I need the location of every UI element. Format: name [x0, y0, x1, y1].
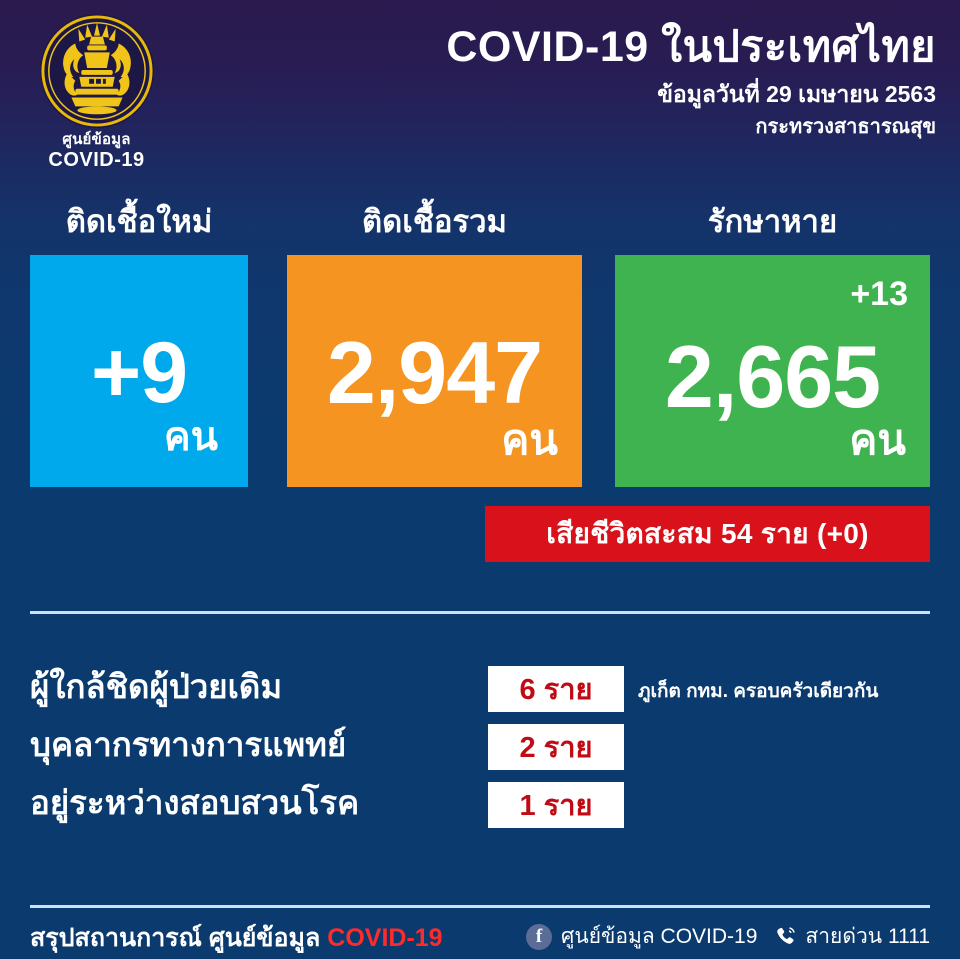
breakdown-label: อยู่ระหว่างสอบสวนโรค — [30, 782, 359, 825]
breakdown-count-chip: 2 ราย — [488, 724, 624, 770]
stat-card-label: รักษาหาย — [615, 205, 930, 249]
deaths-banner: เสียชีวิตสะสม 54 ราย (+0) — [485, 506, 930, 562]
page-title: COVID-19 ในประเทศไทย — [446, 24, 936, 71]
stat-cards: ติดเชื้อใหม่ +9 คน ติดเชื้อรวม 2,947 คน … — [30, 205, 930, 495]
footer-source-text: สรุปสถานการณ์ ศูนย์ข้อมูล — [30, 924, 327, 952]
divider-bottom — [30, 905, 930, 908]
thai-garuda-ministry-emblem-icon — [38, 12, 156, 130]
poster-header: ศูนย์ข้อมูล COVID-19 COVID-19 ในประเทศไท… — [0, 0, 960, 185]
stat-card-box: +9 คน — [30, 255, 248, 487]
breakdown-label: ผู้ใกล้ชิดผู้ป่วยเดิม — [30, 666, 282, 709]
breakdown-count-chip: 1 ราย — [488, 782, 624, 828]
stat-card-recovered: รักษาหาย +13 2,665 คน — [615, 205, 930, 487]
case-breakdown-list: ผู้ใกล้ชิดผู้ป่วยเดิม 6 ราย ภูเก็ต กทม. … — [30, 664, 930, 838]
deaths-text: เสียชีวิตสะสม 54 ราย (+0) — [546, 512, 868, 556]
list-item: ผู้ใกล้ชิดผู้ป่วยเดิม 6 ราย ภูเก็ต กทม. … — [30, 664, 930, 718]
emblem-caption-line1: ศูนย์ข้อมูล — [24, 132, 169, 149]
footer-source-highlight: COVID-19 — [327, 924, 442, 952]
list-item: บุคลากรทางการแพทย์ 2 ราย — [30, 722, 930, 776]
title-block: COVID-19 ในประเทศไทย ข้อมูลวันที่ 29 เมษ… — [446, 24, 936, 139]
stat-card-unit: คน — [164, 417, 218, 457]
list-item: อยู่ระหว่างสอบสวนโรค 1 ราย — [30, 780, 930, 834]
ministry-name: กระทรวงสาธารณสุข — [446, 115, 936, 139]
covid-infographic-poster: ศูนย์ข้อมูล COVID-19 COVID-19 ในประเทศไท… — [0, 0, 960, 959]
facebook-page-name[interactable]: ศูนย์ข้อมูล COVID-19 — [561, 920, 757, 953]
report-date: ข้อมูลวันที่ 29 เมษายน 2563 — [446, 81, 936, 109]
stat-card-delta: +13 — [850, 277, 908, 311]
breakdown-label: บุคลากรทางการแพทย์ — [30, 724, 346, 767]
stat-card-box: +13 2,665 คน — [615, 255, 930, 487]
hotline-text: สายด่วน 1111 — [805, 920, 930, 953]
stat-card-label: ติดเชื้อรวม — [287, 205, 582, 249]
ministry-emblem-block: ศูนย์ข้อมูล COVID-19 — [24, 12, 169, 172]
stat-card-unit: คน — [501, 419, 558, 461]
footer-source: สรุปสถานการณ์ ศูนย์ข้อมูล COVID-19 — [30, 918, 443, 958]
stat-card-value: 2,665 — [615, 335, 930, 419]
poster-footer: สรุปสถานการณ์ ศูนย์ข้อมูล COVID-19 f ศูน… — [30, 918, 930, 952]
stat-card-label: ติดเชื้อใหม่ — [30, 205, 248, 249]
breakdown-count-chip: 6 ราย — [488, 666, 624, 712]
stat-card-total-cases: ติดเชื้อรวม 2,947 คน — [287, 205, 582, 487]
footer-contacts: f ศูนย์ข้อมูล COVID-19 สายด่วน 1111 — [526, 920, 930, 953]
stat-card-value: +9 — [30, 333, 248, 415]
phone-ringing-icon — [773, 925, 797, 949]
stat-card-box: 2,947 คน — [287, 255, 582, 487]
breakdown-note: ภูเก็ต กทม. ครอบครัวเดียวกัน — [638, 676, 878, 706]
facebook-icon[interactable]: f — [526, 924, 552, 950]
emblem-caption-line2: COVID-19 — [24, 149, 169, 172]
stat-card-unit: คน — [849, 419, 906, 461]
divider-top — [30, 611, 930, 614]
stat-card-value: 2,947 — [287, 331, 582, 415]
stat-card-new-cases: ติดเชื้อใหม่ +9 คน — [30, 205, 248, 487]
